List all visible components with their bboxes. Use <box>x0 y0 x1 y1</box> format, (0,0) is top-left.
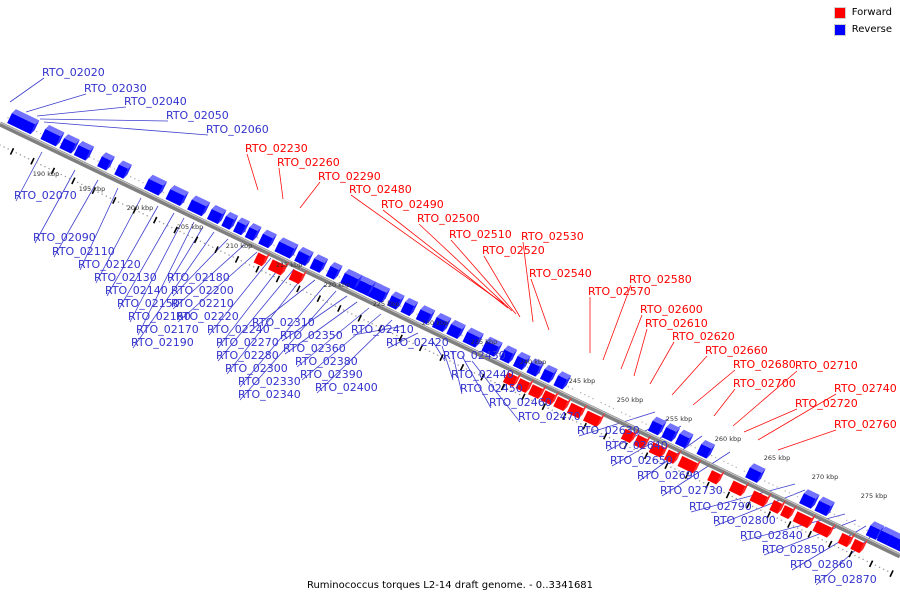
ruler-minor-tick <box>31 158 34 164</box>
ruler-dot <box>355 315 357 317</box>
gene-label[interactable]: RTO_02640 <box>605 439 668 452</box>
ruler-dot <box>838 516 839 517</box>
label-leader-line <box>672 356 707 395</box>
ruler-minor-tick <box>276 276 279 282</box>
ruler-dot <box>400 306 401 307</box>
ruler-dot <box>641 422 642 423</box>
label-leader-line <box>247 154 258 190</box>
gene-label[interactable]: RTO_02860 <box>790 558 853 571</box>
gene-glyph[interactable] <box>745 463 765 483</box>
ruler-dot <box>858 557 860 559</box>
ruler-dot <box>858 526 859 527</box>
ruler-minor-tick <box>154 217 157 223</box>
gene-label[interactable]: RTO_02060 <box>206 123 269 136</box>
gene-label[interactable]: RTO_02660 <box>705 344 768 357</box>
genome-caption: Ruminococcus torques L2-14 draft genome.… <box>0 580 900 591</box>
ruler-dot <box>363 319 365 321</box>
ruler-label: 230 kbp <box>422 319 449 327</box>
label-leader-line <box>714 389 735 416</box>
ruler-dot <box>265 272 267 274</box>
gene-label[interactable]: RTO_02190 <box>131 336 194 349</box>
legend-forward-label: Forward <box>852 7 892 19</box>
ruler-dot <box>580 392 581 393</box>
ruler-dot <box>7 117 8 118</box>
ruler-dot <box>261 270 263 272</box>
gene-front-face <box>289 269 304 284</box>
ruler-dot <box>805 531 807 533</box>
gene-label[interactable]: RTO_02490 <box>381 198 444 211</box>
ruler-dot <box>69 178 71 180</box>
ruler-dot <box>290 284 292 286</box>
ruler-dot <box>605 404 606 405</box>
gene-glyph[interactable] <box>310 254 329 273</box>
ruler-dot <box>77 182 79 184</box>
ruler-dot <box>220 250 222 252</box>
legend-item-reverse[interactable]: Reverse <box>834 23 892 36</box>
ruler-dot <box>286 282 288 284</box>
ruler-label: 270 kbp <box>812 473 839 481</box>
ruler-dot <box>228 254 230 256</box>
gene-label[interactable]: RTO_02090 <box>33 231 96 244</box>
gene-label[interactable]: RTO_02630 <box>577 424 640 437</box>
ruler-dot <box>191 237 193 239</box>
ruler-dot <box>200 241 202 243</box>
ruler-label: 255 kbp <box>666 415 693 423</box>
ruler-dot <box>130 176 131 177</box>
ruler-dot <box>866 530 867 531</box>
ruler-dot <box>167 225 169 227</box>
gene-label[interactable]: RTO_02790 <box>689 500 752 513</box>
ruler-dot <box>756 508 758 510</box>
ruler-dot <box>294 255 295 256</box>
ruler-dot <box>613 408 614 409</box>
gene-label[interactable]: RTO_02450 <box>460 382 523 395</box>
ruler-dot <box>40 164 42 166</box>
ruler-dot <box>433 352 435 354</box>
ruler-dot <box>0 144 1 146</box>
ruler-label: 210 kbp <box>226 242 253 250</box>
label-leader-line <box>484 256 520 317</box>
ruler-dot <box>609 406 610 407</box>
gene-label[interactable]: RTO_02740 <box>834 382 897 395</box>
gene-label[interactable]: RTO_02120 <box>78 258 141 271</box>
ruler-dot <box>249 264 251 266</box>
label-leader-line <box>300 182 320 208</box>
ruler-dot <box>114 168 115 169</box>
ruler-dot <box>846 520 847 521</box>
label-leader-line <box>40 119 168 121</box>
gene-label[interactable]: RTO_02720 <box>795 397 858 410</box>
ruler-dot <box>776 517 778 519</box>
ruler-dot <box>731 465 732 466</box>
ruler-label: 235 kbp <box>471 338 498 346</box>
gene-glyph[interactable] <box>814 497 834 517</box>
label-leader-line <box>531 279 549 330</box>
gene-glyph[interactable] <box>97 152 115 170</box>
gene-front-face <box>254 252 267 266</box>
ruler-dot <box>854 555 856 557</box>
ruler-dot <box>351 313 353 315</box>
ruler-dot <box>768 482 769 483</box>
gene-label[interactable]: RTO_02040 <box>124 95 187 108</box>
ruler-dot <box>416 314 417 315</box>
ruler-dot <box>600 402 601 403</box>
ruler-label: 195 kbp <box>79 185 106 193</box>
ruler-dot <box>723 492 725 494</box>
ruler-label: 205 kbp <box>177 223 204 231</box>
ruler-dot <box>883 568 885 570</box>
ruler-dot <box>621 412 622 413</box>
ruler-dot <box>711 455 712 456</box>
gene-label[interactable]: RTO_02130 <box>94 271 157 284</box>
ruler-minor-tick <box>788 521 791 527</box>
ruler-dot <box>326 301 328 303</box>
ruler-dot <box>772 484 773 485</box>
ruler-dot <box>764 480 765 481</box>
ruler-dot <box>163 192 164 193</box>
ruler-dot <box>838 547 840 549</box>
gene-label[interactable]: RTO_02210 <box>171 297 234 310</box>
ruler-dot <box>592 398 593 399</box>
ruler-dot <box>781 519 783 521</box>
gene-label[interactable]: RTO_02110 <box>52 245 115 258</box>
gene-label[interactable]: RTO_02430 <box>443 349 506 362</box>
gene-label[interactable]: RTO_02310 <box>252 316 315 329</box>
label-leader-line <box>279 168 283 199</box>
gene-label[interactable]: RTO_02760 <box>834 418 897 431</box>
ruler-dot <box>93 158 94 159</box>
ruler-dot <box>785 521 787 523</box>
ruler-dot <box>842 549 844 551</box>
ruler-minor-tick <box>317 296 320 302</box>
gene-label[interactable]: RTO_02500 <box>417 212 480 225</box>
ruler-dot <box>302 290 304 292</box>
gene-glyph[interactable] <box>697 440 716 459</box>
ruler-dot <box>97 160 98 161</box>
ruler-dot <box>110 197 112 199</box>
ruler-dot <box>629 416 630 417</box>
gene-label[interactable]: RTO_02480 <box>349 183 412 196</box>
ruler-dot <box>314 296 316 298</box>
ruler-dot <box>457 364 459 366</box>
gene-label[interactable]: RTO_02710 <box>795 359 858 372</box>
ruler-dot <box>269 274 271 276</box>
gene-label[interactable]: RTO_02580 <box>629 273 692 286</box>
ruler-dot <box>281 280 283 282</box>
ruler-dot <box>343 309 345 311</box>
ruler-label: 215 kbp <box>276 261 303 269</box>
ruler-label: 240 kbp <box>520 358 547 366</box>
ruler-minor-tick <box>72 178 75 184</box>
gene-label[interactable]: RTO_02270 <box>216 336 279 349</box>
ruler-dot <box>20 154 22 156</box>
gene-label[interactable]: RTO_02680 <box>733 358 796 371</box>
gene-label[interactable]: RTO_02070 <box>14 189 77 202</box>
ruler-dot <box>44 166 46 168</box>
gene-label[interactable]: RTO_02290 <box>318 170 381 183</box>
ruler-label: 275 kbp <box>861 492 888 500</box>
ruler-minor-tick <box>338 305 341 311</box>
gene-label[interactable]: RTO_02180 <box>167 271 230 284</box>
ruler-dot <box>776 486 777 487</box>
legend-reverse-swatch <box>834 24 846 36</box>
gene-label[interactable]: RTO_02380 <box>295 355 358 368</box>
ruler-dot <box>171 227 173 229</box>
gene-label[interactable]: RTO_02220 <box>176 310 239 323</box>
ruler-dot <box>7 148 9 150</box>
ruler-dot <box>453 362 455 364</box>
ruler-dot <box>28 158 30 160</box>
ruler-dot <box>204 242 206 244</box>
ruler-dot <box>715 457 716 458</box>
gene-label[interactable]: RTO_02340 <box>238 388 301 401</box>
ruler-dot <box>24 156 26 158</box>
gene-glyph[interactable] <box>400 298 418 316</box>
gene-label[interactable]: RTO_02730 <box>660 484 723 497</box>
ruler-dot <box>834 514 835 515</box>
ruler-label: 225 kbp <box>373 300 400 308</box>
legend-item-forward[interactable]: Forward <box>834 6 892 19</box>
gene-label[interactable]: RTO_02530 <box>521 230 584 243</box>
ruler-minor-tick <box>256 266 259 272</box>
ruler-dot <box>572 388 573 389</box>
ruler-dot <box>821 539 823 541</box>
gene-label[interactable]: RTO_02280 <box>216 349 279 362</box>
ruler-dot <box>40 133 41 134</box>
gene-label[interactable]: RTO_02420 <box>386 336 449 349</box>
ruler-minor-tick <box>870 561 873 567</box>
ruler-dot <box>253 266 255 268</box>
ruler-dot <box>527 367 528 368</box>
ruler-dot <box>151 217 153 219</box>
ruler-minor-tick <box>236 256 239 262</box>
gene-label[interactable]: RTO_02610 <box>645 317 708 330</box>
gene-label[interactable]: RTO_02300 <box>225 362 288 375</box>
ruler-label: 265 kbp <box>764 454 791 462</box>
ruler-dot <box>645 423 646 424</box>
ruler-dot <box>257 237 258 238</box>
gene-label[interactable]: RTO_02570 <box>588 285 651 298</box>
ruler-dot <box>879 566 881 568</box>
ruler-dot <box>588 396 589 397</box>
ruler-dot <box>850 522 851 523</box>
ruler-dot <box>163 223 165 225</box>
gene-label[interactable]: RTO_02470 <box>518 410 581 423</box>
ruler-dot <box>322 299 324 301</box>
ruler-dot <box>224 252 226 254</box>
ruler-dot <box>887 570 889 572</box>
label-leader-line <box>650 342 674 384</box>
ruler-dot <box>735 467 736 468</box>
ruler-dot <box>3 146 5 148</box>
ruler-dot <box>727 463 728 464</box>
gene-label[interactable]: RTO_02400 <box>315 381 378 394</box>
gene-label[interactable]: RTO_02170 <box>136 323 199 336</box>
ruler-dot <box>294 286 296 288</box>
ruler-dot <box>142 182 143 183</box>
ruler-dot <box>36 131 37 132</box>
gene-label[interactable]: RTO_02350 <box>280 329 343 342</box>
gene-label[interactable]: RTO_02800 <box>713 514 776 527</box>
gene-label[interactable]: RTO_02440 <box>451 368 514 381</box>
ruler-dot <box>834 545 836 547</box>
ruler-dot <box>142 213 144 215</box>
ruler-dot <box>232 256 234 258</box>
ruler-dot <box>335 305 337 307</box>
gene-front-face <box>838 533 852 547</box>
label-leader-line <box>693 370 735 405</box>
ruler-dot <box>241 260 243 262</box>
ruler-dot <box>183 233 185 235</box>
ruler-dot <box>723 461 724 462</box>
ruler-dot <box>61 174 63 176</box>
ruler-dot <box>785 490 786 491</box>
ruler-dot <box>752 506 754 508</box>
ruler-dot <box>764 512 766 514</box>
label-leader-line <box>634 329 647 376</box>
ruler-dot <box>347 311 349 313</box>
gene-glyph[interactable] <box>540 365 558 383</box>
ruler-dot <box>744 471 745 472</box>
ruler-dot <box>429 350 431 352</box>
gene-label[interactable]: RTO_02020 <box>42 66 105 79</box>
gene-label[interactable]: RTO_02030 <box>84 82 147 95</box>
gene-front-face <box>769 500 782 514</box>
gene-label[interactable]: RTO_02230 <box>245 142 308 155</box>
ruler-dot <box>817 537 819 539</box>
ruler-dot <box>568 386 569 387</box>
label-leader-line <box>621 315 642 369</box>
ruler-dot <box>101 193 103 195</box>
gene-label[interactable]: RTO_02600 <box>640 303 703 316</box>
gene-label[interactable]: RTO_02690 <box>637 469 700 482</box>
ruler-dot <box>793 525 795 527</box>
ruler-dot <box>106 195 108 197</box>
gene-label[interactable]: RTO_02540 <box>529 267 592 280</box>
ruler-minor-tick <box>11 148 14 154</box>
gene-label[interactable]: RTO_02700 <box>733 377 796 390</box>
label-leader-line <box>44 122 208 135</box>
genome-map-canvas[interactable]: 190 kbp195 kbp200 kbp205 kbp210 kbp215 k… <box>0 0 900 600</box>
legend-reverse-label: Reverse <box>852 24 892 36</box>
legend-forward-swatch <box>834 7 846 19</box>
ruler-dot <box>331 303 333 305</box>
gene-glyph[interactable] <box>326 262 343 280</box>
label-leader-line <box>778 430 836 450</box>
ruler-dot <box>797 496 798 497</box>
ruler-dot <box>310 294 312 296</box>
ruler-dot <box>760 510 762 512</box>
gene-label[interactable]: RTO_02200 <box>171 284 234 297</box>
ruler-dot <box>695 447 696 448</box>
ruler-dot <box>866 561 868 563</box>
ruler-dot <box>731 496 733 498</box>
ruler-minor-tick <box>726 492 729 498</box>
ruler-label: 260 kbp <box>715 435 742 443</box>
ruler-minor-tick <box>808 531 811 537</box>
gene-label[interactable]: RTO_02510 <box>449 228 512 241</box>
gene-label[interactable]: RTO_02050 <box>166 109 229 122</box>
label-leader-line <box>10 78 44 102</box>
ruler-dot <box>273 245 274 246</box>
gene-label[interactable]: RTO_02330 <box>238 375 301 388</box>
gene-glyph[interactable] <box>799 489 819 509</box>
gene-label[interactable]: RTO_02360 <box>283 342 346 355</box>
ruler-dot <box>134 178 135 179</box>
gene-label[interactable]: RTO_02620 <box>672 330 735 343</box>
ruler-dot <box>793 494 794 495</box>
legend: Forward Reverse <box>834 6 892 36</box>
ruler-label: 250 kbp <box>617 396 644 404</box>
gene-label[interactable]: RTO_02650 <box>610 454 673 467</box>
ruler-minor-tick <box>297 286 300 292</box>
gene-label[interactable]: RTO_02390 <box>300 368 363 381</box>
ruler-dot <box>813 535 815 537</box>
label-leader-line <box>37 107 126 116</box>
ruler-label: 220 kbp <box>324 281 351 289</box>
ruler-dot <box>306 292 308 294</box>
label-leader-line <box>26 94 86 112</box>
gene-label[interactable]: RTO_02260 <box>277 156 340 169</box>
gene-label[interactable]: RTO_02850 <box>762 543 825 556</box>
gene-label[interactable]: RTO_02140 <box>105 284 168 297</box>
ruler-dot <box>122 203 124 205</box>
ruler-dot <box>212 246 214 248</box>
ruler-label: 245 kbp <box>569 377 596 385</box>
ruler-dot <box>584 394 585 395</box>
ruler-dot <box>625 414 626 415</box>
ruler-dot <box>846 551 848 553</box>
ruler-dot <box>273 276 275 278</box>
ruler-dot <box>826 541 828 543</box>
genome-map-viewer: 190 kbp195 kbp200 kbp205 kbp210 kbp215 k… <box>0 0 900 600</box>
ruler-dot <box>245 262 247 264</box>
gene-label[interactable]: RTO_02410 <box>351 323 414 336</box>
gene-label[interactable]: RTO_02460 <box>489 396 552 409</box>
ruler-dot <box>326 270 327 271</box>
ruler-minor-tick <box>890 570 893 576</box>
ruler-dot <box>633 418 634 419</box>
ruler-dot <box>437 354 439 356</box>
ruler-dot <box>118 201 120 203</box>
ruler-label: 200 kbp <box>127 204 154 212</box>
ruler-dot <box>138 180 139 181</box>
ruler-dot <box>208 244 210 246</box>
gene-label[interactable]: RTO_02520 <box>482 244 545 257</box>
ruler-dot <box>187 235 189 237</box>
ruler-dot <box>339 276 340 277</box>
gene-label[interactable]: RTO_02840 <box>740 529 803 542</box>
ruler-label: 190 kbp <box>33 170 60 178</box>
ruler-dot <box>16 152 18 154</box>
gene-glyph[interactable] <box>114 160 132 178</box>
ruler-dot <box>36 162 38 164</box>
ruler-dot <box>159 221 161 223</box>
ruler-dot <box>862 559 864 561</box>
ruler-dot <box>662 431 663 432</box>
ruler-dot <box>65 176 67 178</box>
ruler-dot <box>461 335 462 336</box>
ruler-dot <box>690 445 691 446</box>
ruler-dot <box>875 565 877 567</box>
ruler-dot <box>789 492 790 493</box>
ruler-dot <box>854 524 855 525</box>
ruler-dot <box>146 215 148 217</box>
label-leader-line <box>744 409 797 432</box>
